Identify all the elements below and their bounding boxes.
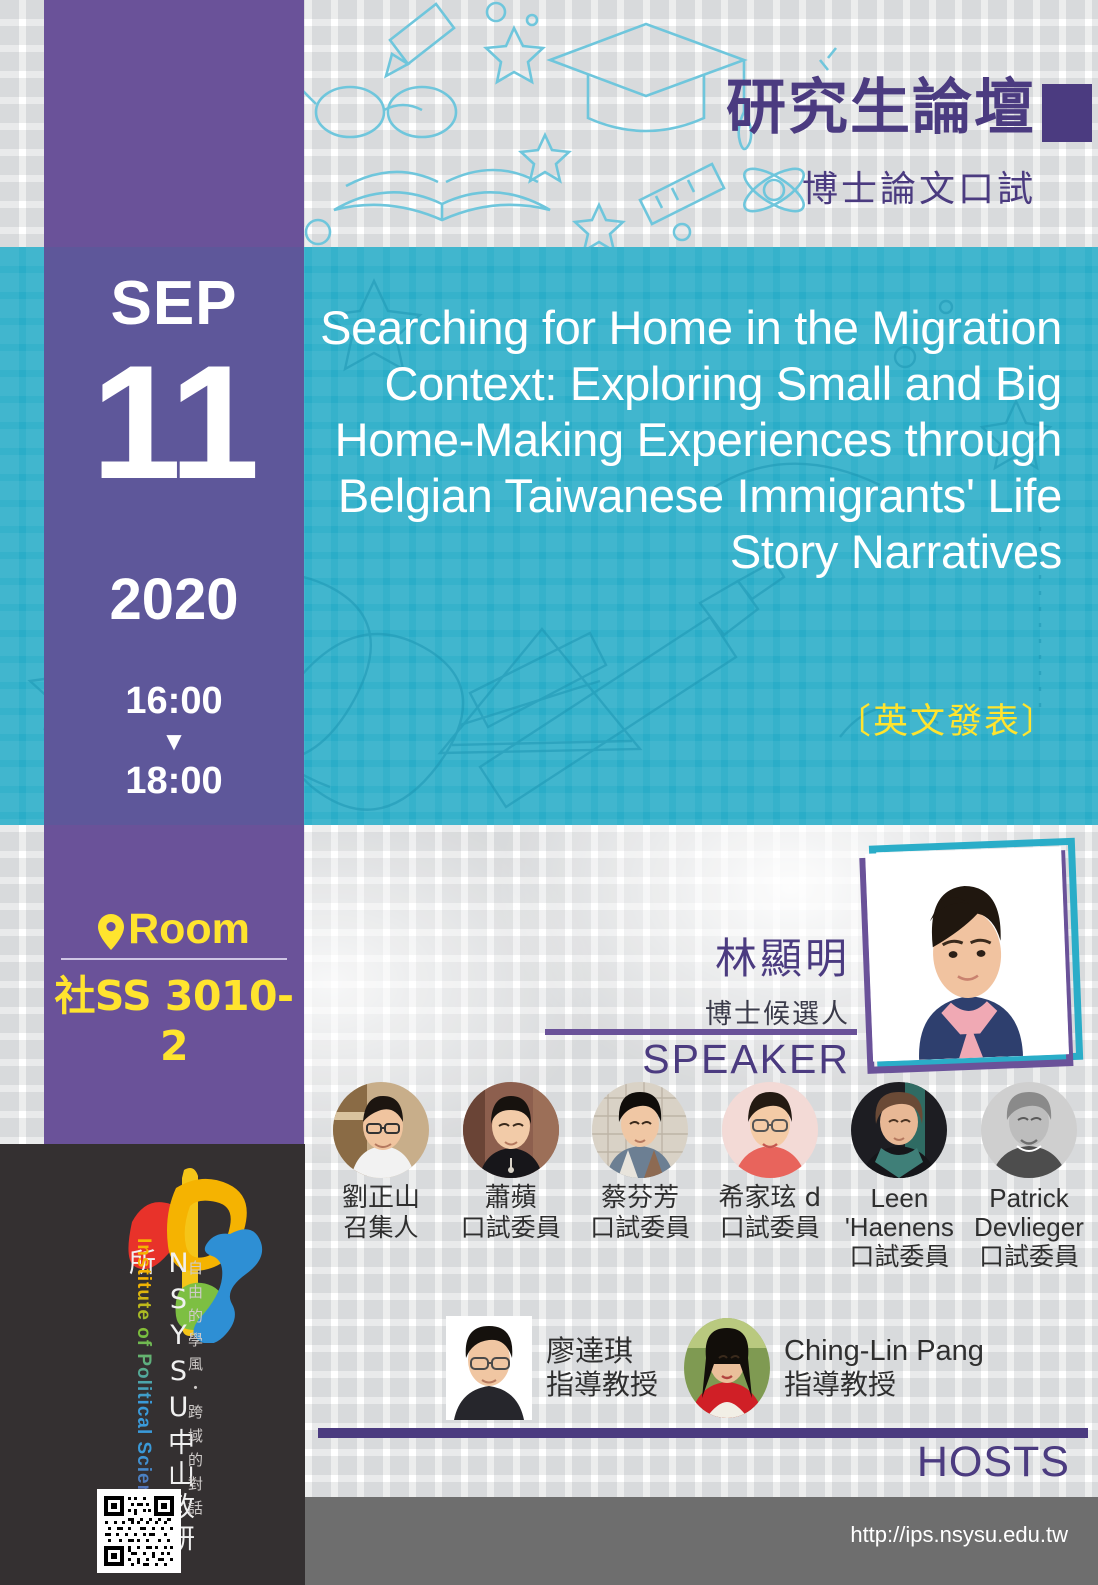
advisor-name: 廖達琪 (546, 1335, 658, 1369)
hosts-divider (318, 1428, 1088, 1438)
room-number: 社SS 3010-2 (44, 962, 304, 1070)
list-item: Ching-Lin Pang 指導教授 (684, 1318, 984, 1418)
time-range-arrow-icon: ▼ (44, 728, 304, 754)
speaker-divider (545, 1029, 857, 1035)
committee-role: 召集人 (320, 1214, 442, 1243)
speaker-name: 林顯明 (560, 925, 850, 986)
room-label: Room (128, 905, 250, 954)
committee-role: 口試委員 (450, 1214, 572, 1243)
avatar (851, 1082, 947, 1178)
advisor-text: Ching-Lin Pang 指導教授 (784, 1335, 984, 1401)
date-month: SEP (44, 268, 304, 339)
advisor-name: Ching-Lin Pang (784, 1335, 984, 1369)
language-tag: 〔英文發表〕 (836, 693, 1058, 744)
committee-name: 'Haenens (838, 1213, 960, 1242)
avatar (333, 1082, 429, 1178)
avatar (722, 1082, 818, 1178)
avatar (981, 1082, 1077, 1178)
advisor-list: 廖達琪 指導教授 Ching-Lin Pang 指導教授 (446, 1316, 1092, 1420)
committee-role: 口試委員 (709, 1214, 831, 1243)
list-item: 劉正山 召集人 (320, 1082, 442, 1243)
qr-code-icon[interactable] (97, 1489, 181, 1573)
list-item: 希家玹 d 口試委員 (709, 1082, 831, 1243)
avatar (684, 1318, 770, 1418)
header-accent-square (1042, 84, 1092, 142)
committee-name-prefix: Leen (838, 1184, 960, 1213)
committee-name: 劉正山 (320, 1184, 442, 1213)
location-pin-icon (98, 912, 124, 948)
committee-list: 劉正山 召集人 蕭蘋 口試委員 (320, 1082, 1090, 1272)
list-item: Patrick Devlieger 口試委員 (968, 1082, 1090, 1272)
website-url[interactable]: http://ips.nsysu.edu.tw (850, 1522, 1068, 1548)
list-item: Leen 'Haenens 口試委員 (838, 1082, 960, 1272)
committee-name: 蔡芬芳 (579, 1184, 701, 1213)
institute-motto: 自由的學風・跨域的對話 (185, 1260, 206, 1524)
advisor-role: 指導教授 (546, 1369, 658, 1401)
time-end: 18:00 (44, 760, 304, 803)
avatar (463, 1082, 559, 1178)
committee-role: 口試委員 (968, 1243, 1090, 1272)
list-item: 蔡芬芳 口試委員 (579, 1082, 701, 1243)
venue-block: Room 社SS 3010-2 (44, 905, 304, 1070)
speaker-role: 博士候選人 (560, 992, 850, 1031)
room-divider (61, 958, 287, 960)
advisor-text: 廖達琪 指導教授 (546, 1335, 658, 1401)
list-item: 蕭蘋 口試委員 (450, 1082, 572, 1243)
committee-role: 口試委員 (579, 1214, 701, 1243)
committee-name-prefix: Patrick (968, 1184, 1090, 1213)
talk-title: Searching for Home in the Migration Cont… (318, 300, 1062, 580)
advisor-role: 指導教授 (784, 1369, 984, 1401)
hosts-section-label: HOSTS (917, 1438, 1070, 1487)
speaker-photo-frame (851, 834, 1084, 1070)
committee-name: 蕭蘋 (450, 1184, 572, 1213)
speaker-section-label: SPEAKER (540, 1036, 850, 1083)
committee-name: Devlieger (968, 1213, 1090, 1242)
room-label-row: Room (44, 905, 304, 954)
committee-name: 希家玹 d (709, 1184, 831, 1213)
date-day: 11 (44, 345, 304, 501)
speaker-portrait (865, 846, 1069, 1061)
date-year: 2020 (44, 566, 304, 633)
poster-header-subtitle: 博士論文口試 (802, 160, 1036, 212)
committee-role: 口試委員 (838, 1243, 960, 1272)
time-start: 16:00 (44, 680, 304, 723)
list-item: 廖達琪 指導教授 (446, 1316, 658, 1420)
avatar (446, 1316, 532, 1420)
institute-name-en: Institute of Political Science (132, 1238, 154, 1520)
poster-canvas: 研究生論壇 博士論文口試 SEP 11 2020 16:00 ▼ 18:00 S… (0, 0, 1098, 1585)
poster-header-title: 研究生論壇 (726, 78, 1036, 138)
avatar (592, 1082, 688, 1178)
